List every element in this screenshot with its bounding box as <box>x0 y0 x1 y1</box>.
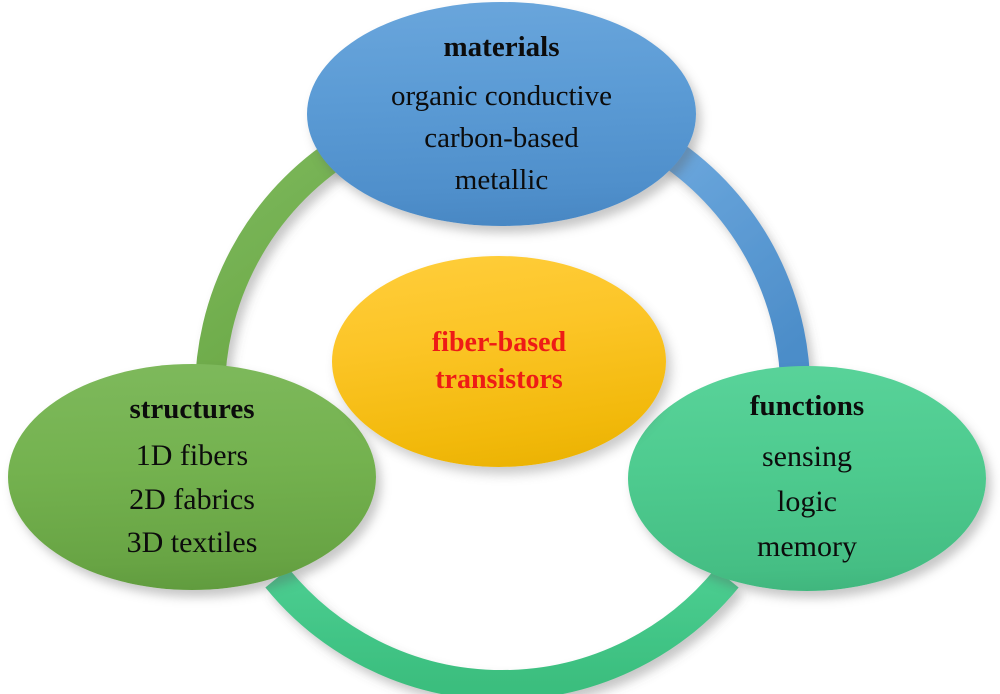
node-functions-item-2: logic <box>777 484 837 519</box>
node-functions-item-3: memory <box>757 529 857 564</box>
connector-structures-to-materials <box>210 148 345 400</box>
node-materials-title: materials <box>444 32 560 62</box>
node-center[interactable]: fiber-based transistors <box>332 256 666 467</box>
node-functions-item-1: sensing <box>762 439 852 474</box>
node-materials-item-1: organic conductive <box>391 79 612 113</box>
connector-functions-to-structures <box>277 578 727 685</box>
node-functions[interactable]: functions sensing logic memory <box>628 366 986 591</box>
node-structures-item-3: 3D textiles <box>127 525 258 560</box>
node-structures-item-2: 2D fabrics <box>129 482 255 517</box>
node-functions-title: functions <box>750 391 864 421</box>
node-materials[interactable]: materials organic conductive carbon-base… <box>307 2 696 226</box>
node-structures[interactable]: structures 1D fibers 2D fabrics 3D texti… <box>8 364 376 590</box>
node-materials-item-2: carbon-based <box>424 121 579 155</box>
node-center-line-2: transistors <box>435 362 563 398</box>
diagram-canvas: materials organic conductive carbon-base… <box>0 0 1000 694</box>
node-structures-title: structures <box>129 394 254 424</box>
node-structures-item-1: 1D fibers <box>136 438 248 473</box>
node-materials-item-3: metallic <box>455 163 548 197</box>
node-center-line-1: fiber-based <box>432 325 566 361</box>
